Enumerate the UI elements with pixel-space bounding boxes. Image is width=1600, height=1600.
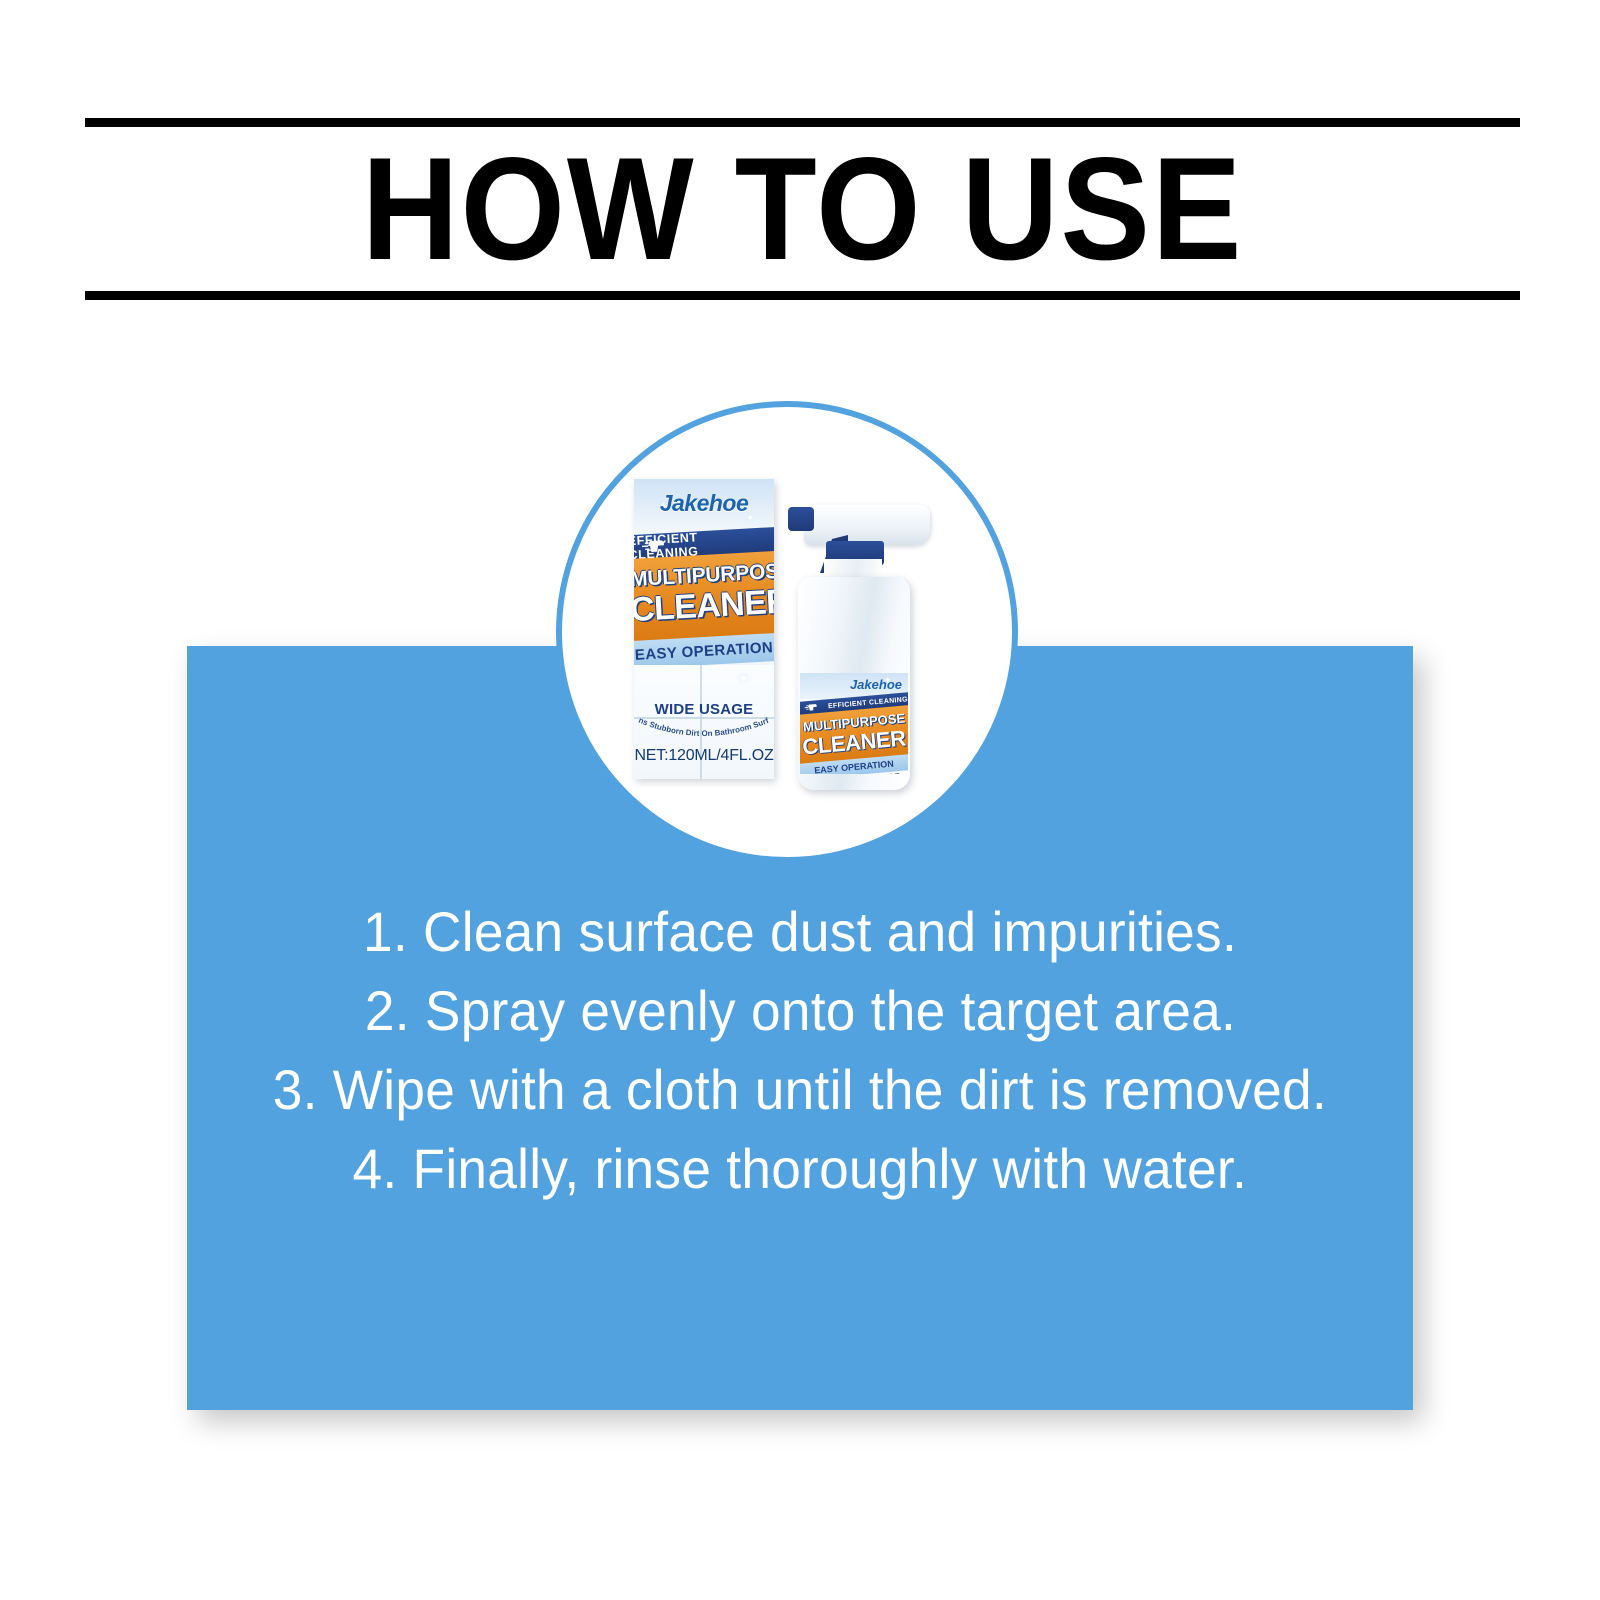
bottle-label: ✦ Jakehoe EFFICIENT CLEANING MULTIPURPOS… [800, 673, 908, 774]
infographic-canvas: HOW TO USE 1. Clean surface dust and imp… [0, 0, 1600, 1600]
spray-nozzle-icon [636, 537, 669, 557]
carton-net-weight: NET:120ML/4FL.OZ [634, 747, 774, 765]
title-block: HOW TO USE [85, 118, 1520, 300]
carton-title-line2: CLEANER [634, 583, 774, 630]
spray-nozzle-icon [800, 702, 821, 714]
product-image-circle: ✦ ✦ Jakehoe EFFICIENT CLEANING MULTIPURP… [556, 401, 1018, 863]
svg-text:Cleans Stubborn Dirt On Bathro: Cleans Stubborn Dirt On Bathroom Surface… [634, 715, 770, 738]
list-item: 4. Finally, rinse thoroughly with water. [353, 1137, 1248, 1202]
product-carton: ✦ ✦ Jakehoe EFFICIENT CLEANING MULTIPURP… [634, 479, 774, 779]
bottle-body: ✦ Jakehoe EFFICIENT CLEANING MULTIPURPOS… [798, 577, 910, 790]
product-photo: ✦ ✦ Jakehoe EFFICIENT CLEANING MULTIPURP… [562, 407, 1012, 857]
carton-claim-text: Cleans Stubborn Dirt On Bathroom Surface… [634, 715, 770, 738]
sparkle-icon: ✦ [738, 671, 749, 687]
carton-subtitle: EASY OPERATION [634, 639, 773, 664]
steps-list: 1. Clean surface dust and impurities. 2.… [187, 900, 1413, 1202]
carton-claim-arc: Cleans Stubborn Dirt On Bathroom Surface… [634, 715, 774, 749]
list-item: 2. Spray evenly onto the target area. [364, 979, 1235, 1044]
page-title: HOW TO USE [142, 126, 1462, 292]
carton-brand: Jakehoe [634, 490, 774, 517]
list-item: 1. Clean surface dust and impurities. [363, 900, 1237, 965]
title-rule-bottom [85, 291, 1520, 300]
spray-bottle: ✦ Jakehoe EFFICIENT CLEANING MULTIPURPOS… [780, 485, 932, 790]
bottle-nozzle-cap [788, 507, 814, 531]
list-item: 3. Wipe with a cloth until the dirt is r… [273, 1058, 1327, 1123]
label-subtitle: EASY OPERATION [814, 759, 894, 774]
label-brand: Jakehoe [800, 677, 902, 692]
